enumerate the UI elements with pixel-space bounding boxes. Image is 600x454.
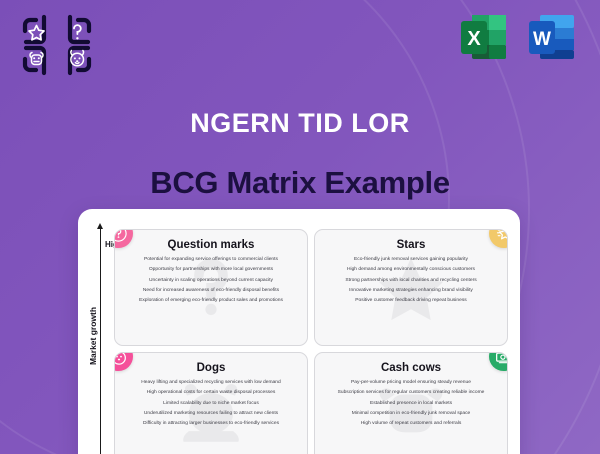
list-item: Eco-friendly junk removal services gaini… (323, 257, 499, 262)
bcg-quadrant-logo-icon (22, 12, 92, 78)
quadrant-question-marks[interactable]: Question marks Potential for expanding s… (114, 229, 308, 346)
quadrant-title: Question marks (123, 239, 299, 251)
matrix-grid: Question marks Potential for expanding s… (114, 229, 508, 454)
excel-icon[interactable]: X (456, 8, 514, 66)
list-item: Subscription services for regular custom… (323, 390, 499, 395)
page-title: BCG Matrix Example (0, 165, 600, 201)
quadrant-stars[interactable]: Stars Eco-friendly junk removal services… (314, 229, 508, 346)
quadrant-title: Stars (323, 239, 499, 251)
quadrant-items: Heavy lifting and specialized recycling … (123, 380, 299, 426)
quadrant-title: Cash cows (323, 362, 499, 374)
y-axis-line (100, 227, 101, 454)
list-item: Pay-per-volume pricing model ensuring st… (323, 380, 499, 385)
quadrant-items: Potential for expanding service offering… (123, 257, 299, 303)
quadrant-items: Pay-per-volume pricing model ensuring st… (323, 380, 499, 426)
brand-name: NGERN TID LOR (0, 108, 600, 139)
list-item: Innovative marketing strategies enhancin… (323, 288, 499, 293)
office-app-icons: X W (456, 8, 582, 66)
quadrant-title: Dogs (123, 362, 299, 374)
quadrant-items: Eco-friendly junk removal services gaini… (323, 257, 499, 303)
list-item: Established presence in local markets (323, 401, 499, 406)
list-item: Underutilized marketing resources failin… (123, 411, 299, 416)
list-item: Minimal competition in eco-friendly junk… (323, 411, 499, 416)
list-item: Difficulty in attracting larger business… (123, 421, 299, 426)
list-item: Uncertainty in scaling operations beyond… (123, 278, 299, 283)
svg-text:W: W (533, 29, 551, 50)
list-item: Potential for expanding service offering… (123, 257, 299, 262)
list-item: Opportunity for partnerships with more l… (123, 267, 299, 272)
quadrant-dogs[interactable]: Dogs Heavy lifting and specialized recyc… (114, 352, 308, 454)
bcg-matrix-card: High Market growth Question marks Potent… (78, 209, 520, 454)
list-item: High demand among environmentally consci… (323, 267, 499, 272)
word-icon[interactable]: W (524, 8, 582, 66)
y-axis-title: Market growth (88, 307, 98, 365)
list-item: High operational costs for certain waste… (123, 390, 299, 395)
svg-text:X: X (467, 28, 481, 50)
quadrant-cash-cows[interactable]: Cash cows Pay-per-volume pricing model e… (314, 352, 508, 454)
list-item: Limited scalability due to niche market … (123, 401, 299, 406)
list-item: High volume of repeat customers and refe… (323, 421, 499, 426)
list-item: Heavy lifting and specialized recycling … (123, 380, 299, 385)
list-item: Positive customer feedback driving repea… (323, 298, 499, 303)
list-item: Exploration of emerging eco-friendly pro… (123, 298, 299, 303)
list-item: Strong partnerships with local charities… (323, 278, 499, 283)
list-item: Need for increased awareness of eco-frie… (123, 288, 299, 293)
